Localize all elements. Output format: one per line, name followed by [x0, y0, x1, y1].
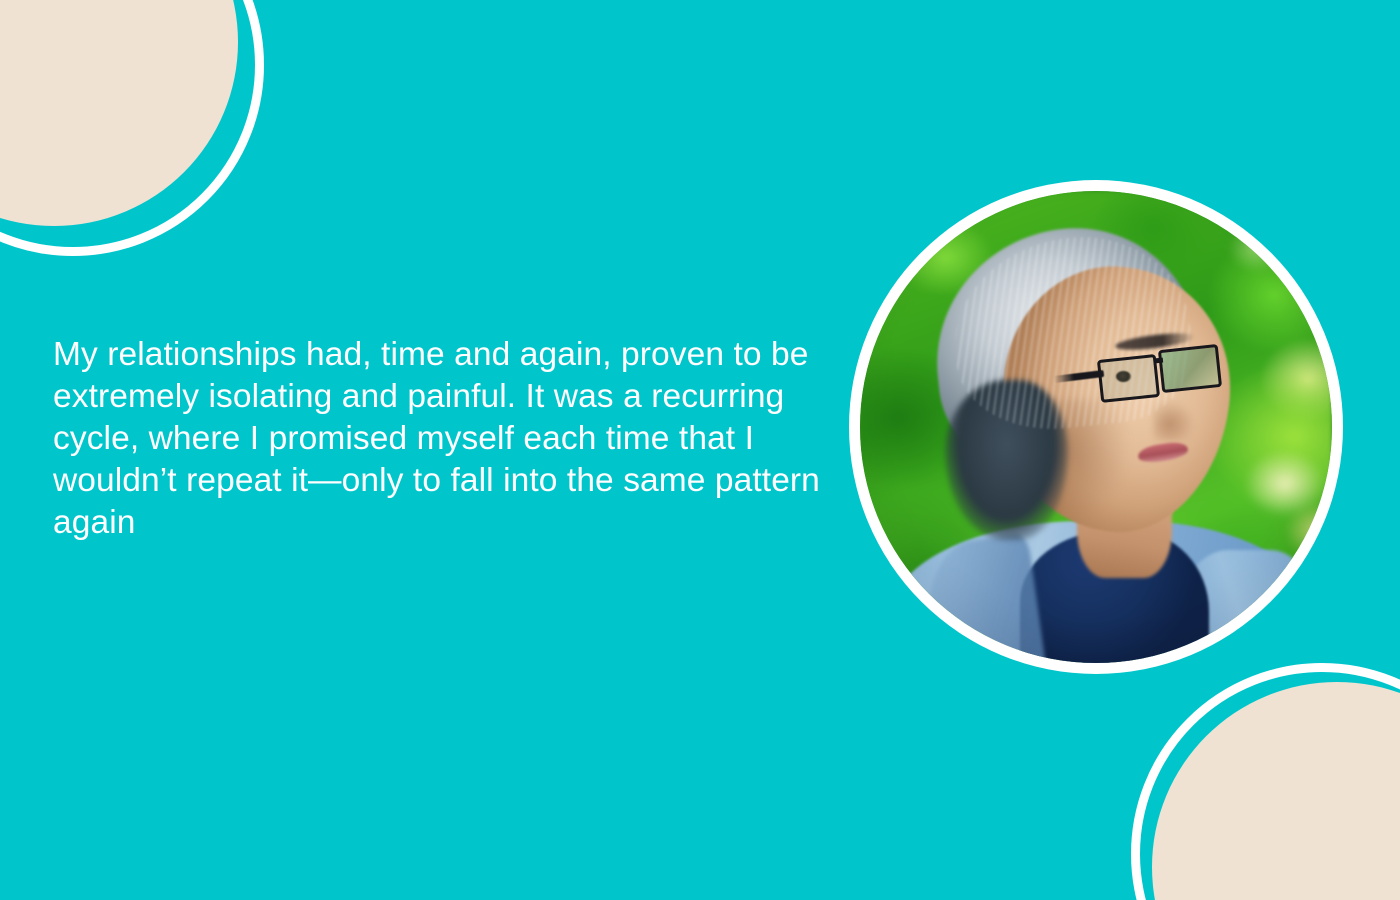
portrait-photo — [860, 191, 1332, 663]
quote-card: My relationships had, time and again, pr… — [0, 0, 1400, 900]
decoration-disc-bottom-right — [1152, 682, 1400, 900]
quote-text: My relationships had, time and again, pr… — [53, 334, 843, 544]
portrait-avatar — [849, 180, 1343, 674]
photo-vignette — [860, 191, 1332, 663]
